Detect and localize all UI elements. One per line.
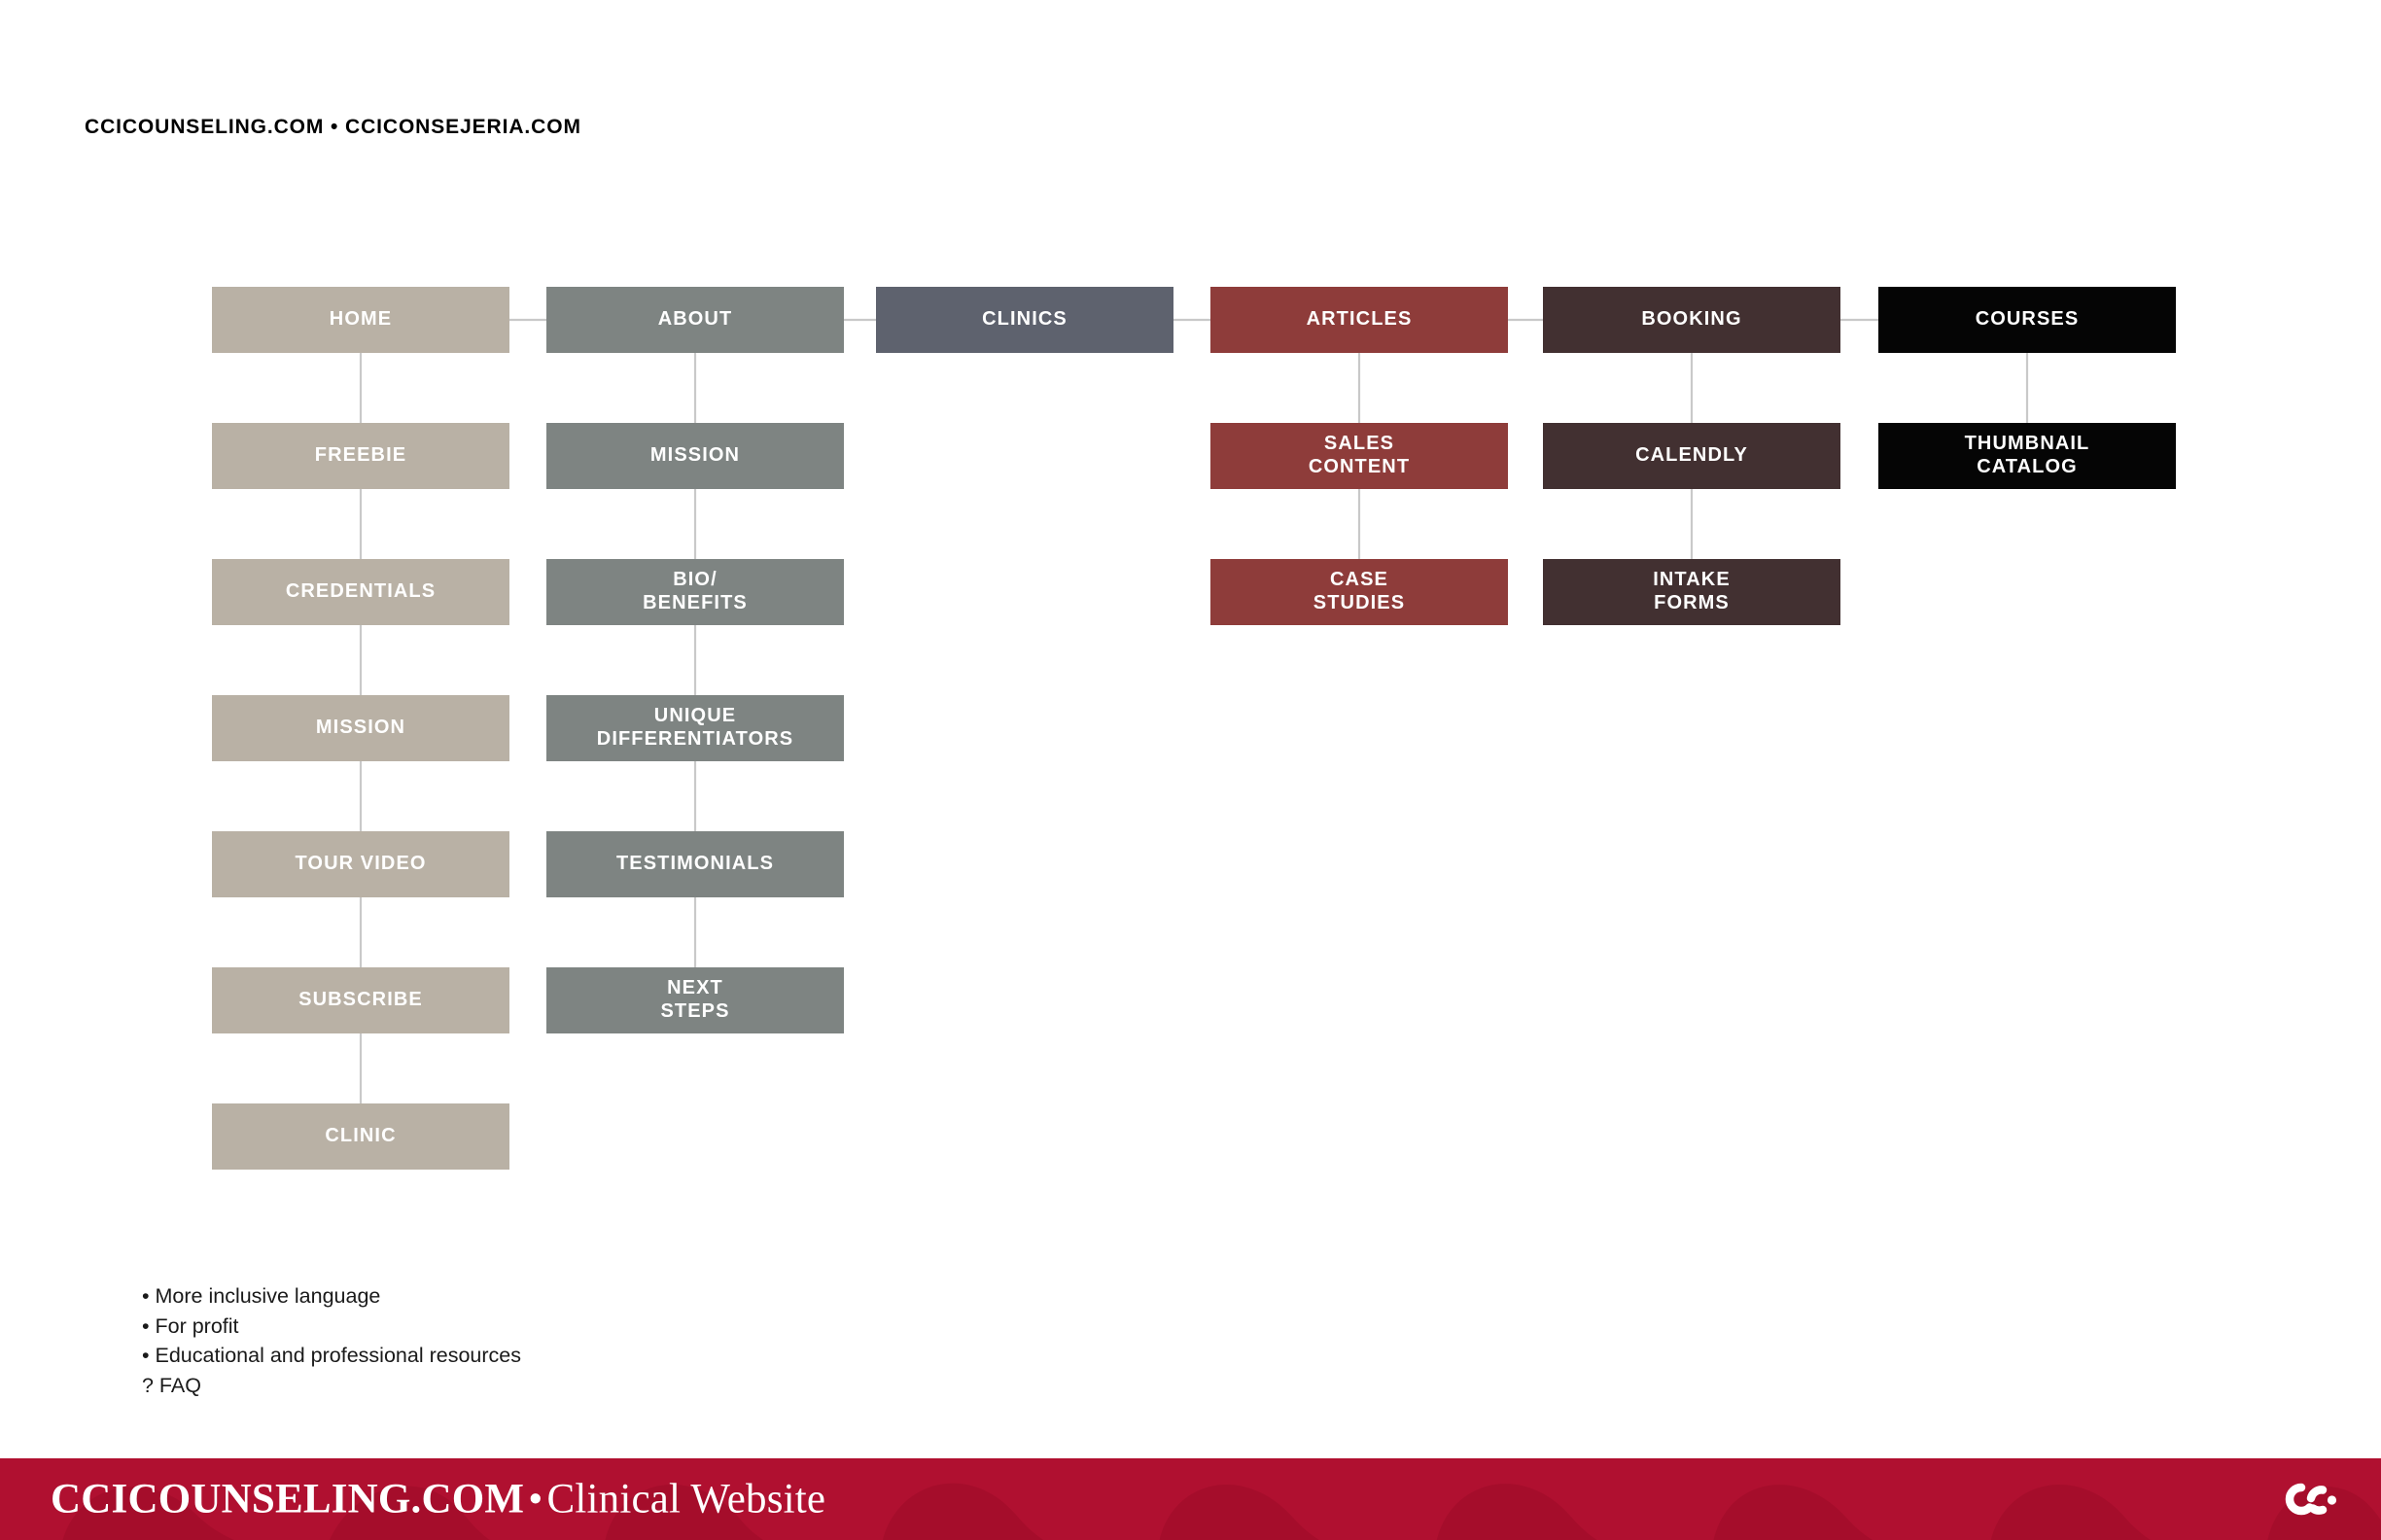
node-label-line-0: CLINICS (982, 308, 1068, 332)
note-item-2: • Educational and professional resources (142, 1341, 521, 1371)
node-label-line-1: STEPS (660, 1000, 729, 1024)
node-label: BOOKING (1641, 308, 1741, 332)
node-label: TOUR VIDEO (295, 853, 426, 876)
node-courses-0[interactable]: COURSES (1878, 287, 2176, 353)
node-label: MISSION (650, 444, 740, 468)
node-label-line-0: UNIQUE (597, 705, 793, 728)
note-item-1: • For profit (142, 1312, 521, 1342)
node-label-line-0: MISSION (316, 717, 405, 740)
node-booking-1[interactable]: CALENDLY (1543, 423, 1840, 489)
node-label-line-0: INTAKE (1653, 569, 1731, 592)
node-label: CLINIC (325, 1125, 396, 1148)
node-home-6[interactable]: CLINIC (212, 1103, 509, 1170)
notes-list: • More inclusive language• For profit• E… (142, 1281, 521, 1401)
footer-bar: CCICOUNSELING.COM•Clinical Website (0, 1458, 2381, 1540)
note-item-3: ? FAQ (142, 1371, 521, 1401)
node-label-line-0: ARTICLES (1307, 308, 1413, 332)
node-about-4[interactable]: TESTIMONIALS (546, 831, 844, 897)
node-label-line-1: BENEFITS (643, 592, 748, 615)
node-label-line-0: CALENDLY (1635, 444, 1748, 468)
node-label: UNIQUEDIFFERENTIATORS (597, 705, 793, 751)
node-label-line-1: CATALOG (1965, 456, 2090, 479)
node-label: CREDENTIALS (286, 580, 436, 604)
node-label-line-0: COURSES (1976, 308, 2080, 332)
node-home-4[interactable]: TOUR VIDEO (212, 831, 509, 897)
node-articles-1[interactable]: SALESCONTENT (1210, 423, 1508, 489)
node-label-line-1: DIFFERENTIATORS (597, 728, 793, 752)
node-label-line-0: BOOKING (1641, 308, 1741, 332)
node-label: CASESTUDIES (1313, 569, 1405, 614)
node-label-line-0: CREDENTIALS (286, 580, 436, 604)
node-label-line-0: TESTIMONIALS (616, 853, 774, 876)
node-label-line-0: MISSION (650, 444, 740, 468)
sitemap-diagram: HOMEFREEBIECREDENTIALSMISSIONTOUR VIDEOS… (0, 0, 2381, 1390)
node-home-1[interactable]: FREEBIE (212, 423, 509, 489)
node-label: THUMBNAILCATALOG (1965, 433, 2090, 478)
node-label-line-0: HOME (330, 308, 392, 332)
node-label: CLINICS (982, 308, 1068, 332)
footer-brand: CCICOUNSELING.COM (51, 1477, 524, 1522)
node-home-0[interactable]: HOME (212, 287, 509, 353)
node-label-line-0: NEXT (660, 977, 729, 1000)
node-home-5[interactable]: SUBSCRIBE (212, 967, 509, 1033)
node-label: FREEBIE (315, 444, 406, 468)
node-label: NEXTSTEPS (660, 977, 729, 1023)
node-booking-0[interactable]: BOOKING (1543, 287, 1840, 353)
node-label: HOME (330, 308, 392, 332)
node-label: ARTICLES (1307, 308, 1413, 332)
node-about-2[interactable]: BIO/BENEFITS (546, 559, 844, 625)
footer-title: CCICOUNSELING.COM•Clinical Website (51, 1476, 825, 1523)
node-courses-1[interactable]: THUMBNAILCATALOG (1878, 423, 2176, 489)
node-label-line-0: SALES (1309, 433, 1410, 456)
node-label: MISSION (316, 717, 405, 740)
footer-subtitle: Clinical Website (546, 1477, 825, 1522)
node-label-line-0: SUBSCRIBE (298, 989, 423, 1012)
note-item-0: • More inclusive language (142, 1281, 521, 1312)
node-about-3[interactable]: UNIQUEDIFFERENTIATORS (546, 695, 844, 761)
node-about-5[interactable]: NEXTSTEPS (546, 967, 844, 1033)
node-label-line-0: CLINIC (325, 1125, 396, 1148)
node-articles-0[interactable]: ARTICLES (1210, 287, 1508, 353)
node-label-line-0: CASE (1313, 569, 1405, 592)
node-label: TESTIMONIALS (616, 853, 774, 876)
node-label: ABOUT (658, 308, 733, 332)
node-label-line-0: THUMBNAIL (1965, 433, 2090, 456)
node-home-3[interactable]: MISSION (212, 695, 509, 761)
node-label-line-0: TOUR VIDEO (295, 853, 426, 876)
cc-monogram-logo-icon (2272, 1478, 2344, 1521)
node-label-line-0: FREEBIE (315, 444, 406, 468)
node-home-2[interactable]: CREDENTIALS (212, 559, 509, 625)
node-label: SUBSCRIBE (298, 989, 423, 1012)
node-label-line-0: BIO/ (643, 569, 748, 592)
node-label: SALESCONTENT (1309, 433, 1410, 478)
node-label-line-0: ABOUT (658, 308, 733, 332)
node-about-1[interactable]: MISSION (546, 423, 844, 489)
node-clinics-0[interactable]: CLINICS (876, 287, 1173, 353)
node-articles-2[interactable]: CASESTUDIES (1210, 559, 1508, 625)
node-booking-2[interactable]: INTAKEFORMS (1543, 559, 1840, 625)
node-about-0[interactable]: ABOUT (546, 287, 844, 353)
node-label: BIO/BENEFITS (643, 569, 748, 614)
node-label-line-1: FORMS (1653, 592, 1731, 615)
node-label: CALENDLY (1635, 444, 1748, 468)
node-label-line-1: CONTENT (1309, 456, 1410, 479)
node-label: INTAKEFORMS (1653, 569, 1731, 614)
node-label-line-1: STUDIES (1313, 592, 1405, 615)
footer-separator: • (524, 1477, 546, 1522)
node-label: COURSES (1976, 308, 2080, 332)
